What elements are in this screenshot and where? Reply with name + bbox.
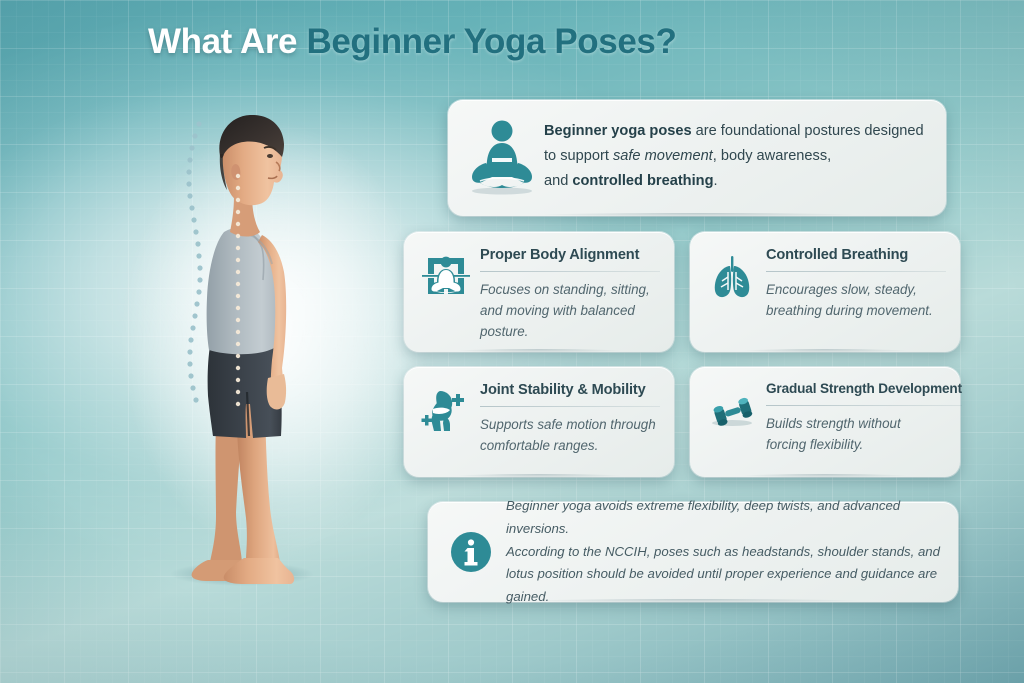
knee-joint-icon [418, 383, 474, 439]
spine-curve-dots [186, 121, 202, 402]
figure-hand [267, 374, 286, 409]
lotus-meditation-icon [464, 112, 540, 204]
plus-mark-small [422, 415, 433, 426]
feature-title: Proper Body Alignment [480, 246, 660, 264]
feature-description: Supports safe motion through comfortable… [480, 415, 660, 457]
note-line-3: lotus position should be avoided until p… [506, 563, 940, 608]
standing-posture-figure [150, 92, 365, 592]
intro-line-2-italic: safe movement [613, 148, 713, 164]
intro-line-2: to support safe movement, body awareness… [544, 144, 924, 169]
intro-card: Beginner yoga poses are foundational pos… [448, 100, 946, 216]
feature-desc-line-1: Focuses on standing, sitting, [480, 280, 660, 301]
feature-desc-line-2: and moving with balanced posture. [480, 301, 660, 343]
feature-card-controlled-breathing: Controlled Breathing Encourages slow, st… [690, 232, 960, 352]
feature-title: Gradual Strength Development [766, 381, 962, 398]
feature-divider [480, 406, 660, 407]
feature-card-joint-stability-mobility: Joint Stability & Mobility Supports safe… [404, 367, 674, 477]
intro-line-3-post: . [713, 173, 717, 189]
page-title: What Are Beginner Yoga Poses? [148, 22, 676, 62]
intro-line-3-bold: controlled breathing [572, 173, 713, 189]
note-card: Beginner yoga avoids extreme flexibility… [428, 502, 958, 602]
intro-line-1: Beginner yoga poses are foundational pos… [544, 119, 924, 144]
intro-line-1-rest: are foundational postures designed [692, 123, 924, 139]
dumbbell-icon [704, 383, 760, 439]
feature-title: Controlled Breathing [766, 246, 946, 264]
page-title-white-part: What Are [148, 22, 297, 61]
feature-desc-line-2: comfortable ranges. [480, 436, 660, 457]
intro-card-text: Beginner yoga poses are foundational pos… [540, 112, 924, 195]
feature-title: Joint Stability & Mobility [480, 381, 660, 399]
feature-divider [766, 271, 946, 272]
page-title-teal-part: Beginner Yoga Poses? [306, 22, 676, 61]
feature-description: Encourages slow, steady, breathing durin… [766, 280, 946, 322]
feature-desc-line-2: breathing during movement. [766, 301, 946, 322]
note-line-2: According to the NCCIH, poses such as he… [506, 541, 940, 564]
lungs-icon [704, 248, 760, 304]
feature-divider [480, 271, 660, 272]
note-card-text: Beginner yoga avoids extreme flexibility… [500, 495, 940, 609]
feature-desc-line-1: Builds strength without [766, 414, 962, 435]
feature-card-proper-body-alignment: Proper Body Alignment Focuses on standin… [404, 232, 674, 352]
body-alignment-icon [418, 248, 474, 304]
figure-eye [267, 154, 273, 158]
infographic-canvas: What Are Beginner Yoga Poses? [0, 0, 1024, 683]
feature-description: Builds strength without forcing flexibil… [766, 414, 962, 456]
feature-desc-line-2: forcing flexibility. [766, 435, 962, 456]
intro-line-1-bold: Beginner yoga poses [544, 123, 692, 139]
plus-mark-large [452, 394, 464, 406]
intro-line-3-pre: and [544, 173, 572, 189]
feature-desc-line-1: Encourages slow, steady, [766, 280, 946, 301]
intro-line-2-pre: to support [544, 148, 613, 164]
feature-divider [766, 405, 962, 406]
feature-card-gradual-strength-development: Gradual Strength Development Builds stre… [690, 367, 960, 477]
info-circle-icon [442, 523, 500, 581]
feature-desc-line-1: Supports safe motion through [480, 415, 660, 436]
note-line-1: Beginner yoga avoids extreme flexibility… [506, 495, 940, 540]
intro-line-3: and controlled breathing. [544, 169, 924, 194]
intro-line-2-post: , body awareness, [713, 148, 831, 164]
feature-description: Focuses on standing, sitting, and moving… [480, 280, 660, 342]
